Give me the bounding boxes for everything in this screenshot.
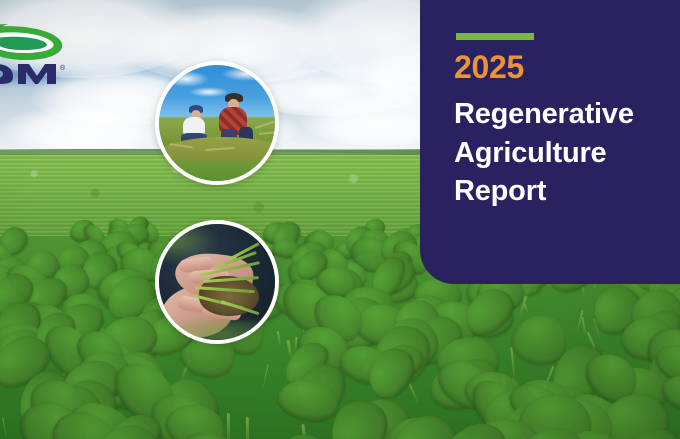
page-title: Regenerative Agriculture Report: [454, 95, 680, 211]
hands-holding-seedlings-photo: [155, 220, 279, 344]
leaf-stem: [246, 417, 249, 439]
title-line-2: Agriculture: [454, 134, 680, 173]
leaf-stem: [262, 364, 269, 389]
report-cover: ®: [0, 0, 680, 439]
leaf-stem: [2, 417, 7, 438]
leaf-stem: [227, 413, 230, 439]
leaf-stem: [277, 331, 282, 347]
leaf-stem: [582, 317, 587, 337]
adm-wordmark: [0, 64, 56, 84]
title-line-1: Regenerative: [454, 95, 680, 134]
soybean-leaf: [251, 423, 343, 439]
adm-leaf-icon: [0, 24, 62, 60]
registered-trademark-symbol: ®: [60, 64, 66, 72]
accent-rule: [456, 33, 534, 40]
title-panel: 2025 Regenerative Agriculture Report: [420, 0, 680, 284]
title-line-3: Report: [454, 172, 680, 211]
farmers-in-field-photo: [155, 61, 279, 185]
adm-logo: ®: [0, 22, 80, 84]
report-year: 2025: [454, 50, 524, 85]
